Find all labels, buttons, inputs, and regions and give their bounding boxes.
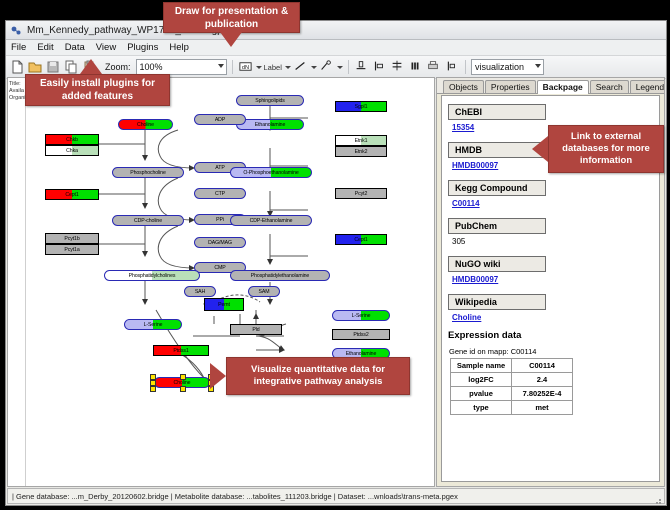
section-header-nugowiki: NuGO wiki: [448, 256, 546, 272]
menu-help[interactable]: Help: [168, 42, 190, 53]
app-icon: [10, 24, 22, 36]
callout-visualize: Visualize quantitative data for integrat…: [226, 357, 410, 395]
same-width-icon[interactable]: [408, 59, 424, 75]
gene-etnk1[interactable]: Etnk1: [335, 135, 387, 146]
expression-table: Sample name C00114 log2FC 2.4 pvalue 7.8…: [450, 358, 573, 415]
gene-pcyt1b[interactable]: Pcyt1b: [45, 233, 99, 244]
cell-val-type: met: [512, 401, 573, 415]
menu-view[interactable]: View: [95, 42, 117, 53]
node-l-serine-right[interactable]: L-Serine: [332, 310, 390, 321]
node-sam[interactable]: SAM: [248, 286, 280, 297]
line-dropdown[interactable]: [311, 66, 317, 69]
tab-legend[interactable]: Legend: [630, 80, 665, 93]
pathway-canvas[interactable]: Title: Availa Organi: [7, 77, 435, 487]
chevron-down-icon: [311, 66, 317, 69]
cell-key-log2fc: log2FC: [451, 373, 512, 387]
side-panel-tabs: Objects Properties Backpage Search Legen…: [437, 78, 664, 94]
gene-pemt[interactable]: Pemt: [204, 298, 244, 311]
new-icon[interactable]: [9, 59, 25, 75]
chevron-down-icon: [256, 66, 262, 69]
canvas-info-availab: Availa: [8, 88, 25, 95]
table-row: log2FC 2.4: [451, 373, 573, 387]
kegg-link[interactable]: C00114: [452, 199, 659, 208]
toolbar-separator-1: [232, 60, 233, 74]
copy-icon[interactable]: [63, 59, 79, 75]
menu-edit[interactable]: Edit: [36, 42, 54, 53]
toolbar-separator-2: [348, 60, 349, 74]
interaction-dropdown[interactable]: [337, 66, 343, 69]
callout-visualize-text: Visualize quantitative data for integrat…: [233, 364, 403, 388]
zoom-value: 100%: [140, 62, 163, 72]
interaction-icon[interactable]: [319, 59, 335, 75]
selection-group-choline[interactable]: Choline: [150, 374, 214, 390]
visualization-value: visualization: [475, 62, 524, 72]
resize-handle-s[interactable]: [180, 386, 186, 392]
chevron-down-icon: [535, 64, 541, 68]
cell-key-pvalue: pvalue: [451, 387, 512, 401]
gene-cpt1-left[interactable]: Cept1: [45, 189, 99, 200]
callout-plugins-arrow-icon: [80, 59, 102, 74]
gene-pcyt2[interactable]: Pcyt2: [335, 188, 387, 199]
gene-ptdss2[interactable]: Ptdss2: [332, 329, 390, 340]
gene-etnk2[interactable]: Etnk2: [335, 146, 387, 157]
section-header-chebi: ChEBI: [448, 104, 546, 120]
save-icon[interactable]: [45, 59, 61, 75]
callout-links: Link to external databases for more info…: [548, 125, 664, 173]
node-choline-top[interactable]: Choline: [118, 119, 173, 130]
align-middle-icon[interactable]: [444, 59, 460, 75]
title-bar: Mm_Kennedy_pathway_WP1771_45176.gpml: [6, 21, 666, 40]
resize-handle-sw[interactable]: [150, 386, 156, 392]
section-header-pubchem: PubChem: [448, 218, 546, 234]
tab-search[interactable]: Search: [590, 80, 629, 93]
menu-data[interactable]: Data: [64, 42, 86, 53]
tab-objects[interactable]: Objects: [443, 80, 484, 93]
node-o-phosphoethanolamine[interactable]: O-Phosphoethanolamine: [230, 167, 312, 178]
node-sah[interactable]: SAH: [184, 286, 216, 297]
gene-id-label: Gene id on mapp: C00114: [449, 347, 659, 356]
datanode-icon[interactable]: dN: [238, 59, 254, 75]
table-row: type met: [451, 401, 573, 415]
node-phosphatidylethanolamine[interactable]: Phosphatidylethanolamine: [230, 270, 330, 281]
cell-val-sample-name: C00114: [512, 359, 573, 373]
chevron-down-icon: [218, 64, 224, 68]
node-cdp-ethanolamine[interactable]: CDP-Ethanolamine: [230, 215, 312, 226]
gene-cept1[interactable]: Cept1: [335, 234, 387, 245]
menu-bar: File Edit Data View Plugins Help: [6, 40, 666, 56]
callout-visualize-arrow-icon: [210, 363, 226, 389]
node-dag-mag[interactable]: DAG/MAG: [194, 237, 246, 248]
node-ethanolamine-top[interactable]: Ethanolamine: [236, 119, 304, 130]
gene-sgpl1[interactable]: Sgpl1: [335, 101, 387, 112]
tab-properties[interactable]: Properties: [485, 80, 536, 93]
distribute-vertical-icon[interactable]: [390, 59, 406, 75]
zoom-label: Zoom:: [105, 62, 131, 72]
chevron-down-icon: [285, 66, 291, 69]
callout-plugins-text: Easily install plugins for added feature…: [32, 77, 163, 103]
pubchem-value: 305: [452, 237, 659, 246]
svg-text:dN: dN: [241, 65, 248, 71]
table-row: Sample name C00114: [451, 359, 573, 373]
status-text: | Gene database: ...m_Derby_20120602.bri…: [8, 492, 458, 501]
node-adp[interactable]: ADP: [194, 114, 246, 125]
menu-plugins[interactable]: Plugins: [126, 42, 159, 53]
gene-ptdss1[interactable]: Ptdss1: [153, 345, 209, 356]
node-sphingolipids[interactable]: Sphingolipids: [236, 95, 304, 106]
zoom-select[interactable]: 100%: [136, 59, 227, 75]
node-phosphatidylcholines[interactable]: Phosphatidylcholines: [104, 270, 200, 281]
print-icon[interactable]: [426, 59, 442, 75]
label-dropdown[interactable]: Label: [264, 63, 291, 72]
canvas-info-title: Title:: [8, 81, 25, 88]
callout-links-text: Link to external databases for more info…: [555, 131, 657, 167]
section-header-kegg: Kegg Compound: [448, 180, 546, 196]
gene-chka[interactable]: Chka: [45, 145, 99, 156]
node-ctp-visible[interactable]: CTP: [194, 188, 246, 199]
cell-key-sample-name: Sample name: [451, 359, 512, 373]
wikipedia-link[interactable]: Choline: [452, 313, 659, 322]
callout-draw: Draw for presentation & publication: [163, 2, 300, 33]
expression-data-title: Expression data: [448, 330, 659, 341]
align-top-icon[interactable]: [354, 59, 370, 75]
visualization-select[interactable]: visualization: [471, 59, 544, 75]
canvas-info-gutter: Title: Availa Organi: [8, 78, 26, 487]
resize-grip-icon[interactable]: [652, 492, 662, 502]
section-header-wikipedia: Wikipedia: [448, 294, 546, 310]
chevron-down-icon: [337, 66, 343, 69]
nugowiki-link[interactable]: HMDB00097: [452, 275, 659, 284]
table-row: pvalue 7.80252E-4: [451, 387, 573, 401]
gene-pld[interactable]: Pld: [230, 324, 282, 335]
cell-val-pvalue: 7.80252E-4: [512, 387, 573, 401]
canvas-info-organism: Organi: [8, 95, 25, 102]
screenshot-root: Mm_Kennedy_pathway_WP1771_45176.gpml Fil…: [0, 0, 670, 509]
tab-backpage[interactable]: Backpage: [537, 80, 589, 94]
callout-plugins: Easily install plugins for added feature…: [25, 74, 170, 106]
cell-val-log2fc: 2.4: [512, 373, 573, 387]
node-cdp-choline[interactable]: CDP-choline: [112, 215, 184, 226]
node-l-serine-left[interactable]: L-Serine: [124, 319, 182, 330]
open-icon[interactable]: [27, 59, 43, 75]
cell-key-type: type: [451, 401, 512, 415]
callout-draw-arrow-icon: [220, 32, 242, 47]
line-icon[interactable]: [293, 59, 309, 75]
callout-links-arrow-icon: [532, 136, 548, 162]
datanode-dropdown[interactable]: [256, 66, 262, 69]
callout-draw-text: Draw for presentation & publication: [170, 5, 293, 31]
status-bar: | Gene database: ...m_Derby_20120602.bri…: [7, 488, 665, 504]
gene-pcyt1a[interactable]: Pcyt1a: [45, 244, 99, 255]
resize-handle-n[interactable]: [180, 374, 186, 380]
gene-chkb[interactable]: Chkb: [45, 134, 99, 145]
node-phosphocholine[interactable]: Phosphocholine: [112, 167, 184, 178]
align-left-icon[interactable]: [372, 59, 388, 75]
menu-file[interactable]: File: [10, 42, 27, 53]
toolbar-separator-3: [465, 60, 466, 74]
